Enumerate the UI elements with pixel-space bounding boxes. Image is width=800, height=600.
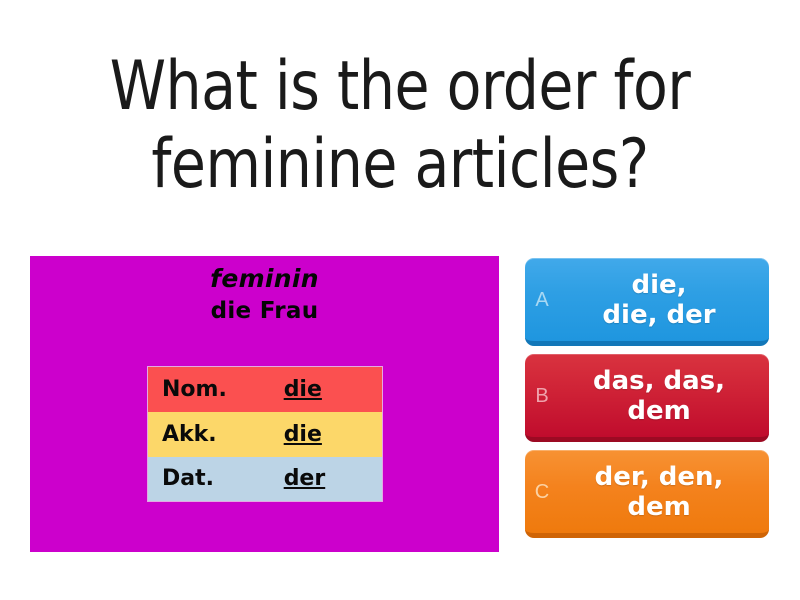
table-cell-case: Nom.	[148, 367, 270, 412]
answer-text-b: das, das, dem	[559, 366, 769, 426]
page-title: What is the order for feminine articles?	[28, 48, 772, 204]
answer-text-c: der, den, dem	[559, 462, 769, 522]
article-word: die	[284, 422, 322, 447]
media-heading-group: feminin die Frau	[30, 264, 499, 326]
answer-text-a: die, die, der	[559, 270, 769, 330]
table-row: Akk. die	[148, 412, 383, 457]
article-word: die	[284, 377, 322, 402]
answer-letter-a: A	[525, 290, 559, 310]
article-word: der	[284, 466, 326, 491]
table-cell-article: die	[270, 367, 383, 412]
declension-table: Nom. die Akk. die Dat. der	[147, 366, 383, 502]
question-image-panel: feminin die Frau Nom. die Akk. die	[30, 256, 499, 552]
media-heading-feminin: feminin	[30, 264, 499, 294]
table-cell-article: der	[270, 457, 383, 502]
table-row: Nom. die	[148, 367, 383, 412]
answer-option-a[interactable]: A die, die, der	[525, 258, 769, 346]
answer-letter-c: C	[525, 482, 559, 502]
table-cell-article: die	[270, 412, 383, 457]
table-row: Dat. der	[148, 457, 383, 502]
quiz-content-row: feminin die Frau Nom. die Akk. die	[0, 250, 800, 560]
answer-letter-b: B	[525, 386, 559, 406]
media-subheading-die-frau: die Frau	[30, 296, 499, 326]
answer-options-list: A die, die, der B das, das, dem C der, d…	[525, 250, 769, 560]
answer-option-b[interactable]: B das, das, dem	[525, 354, 769, 442]
table-cell-case: Dat.	[148, 457, 270, 502]
answer-option-c[interactable]: C der, den, dem	[525, 450, 769, 538]
table-cell-case: Akk.	[148, 412, 270, 457]
